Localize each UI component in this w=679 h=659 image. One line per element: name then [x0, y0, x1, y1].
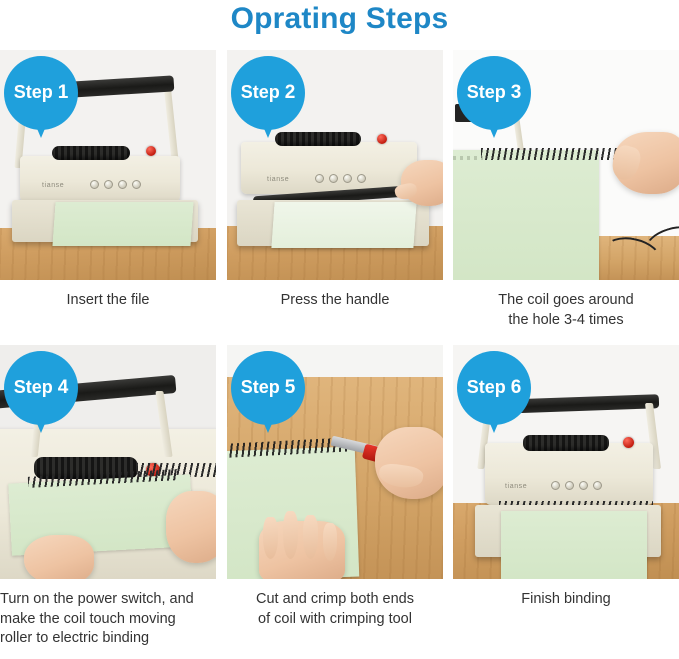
feed-roller: [275, 132, 361, 146]
finger-2: [283, 511, 298, 559]
dial-4: [357, 174, 366, 183]
green-paper: [271, 202, 416, 248]
finger-3: [303, 515, 318, 559]
step-caption-2: Press the handle: [227, 291, 443, 311]
steps-row-bottom: Step 4 Turn on the power switch, and mak…: [0, 345, 679, 659]
step-badge-1: Step 1: [4, 56, 78, 130]
step-caption-5: Cut and crimp both ends of coil with cri…: [227, 590, 443, 629]
steps-grid: tianse Step 1 Insert the file: [0, 50, 679, 659]
step-card-5: Step 5 Cut and crimp both ends of coil w…: [227, 345, 443, 659]
hand-left: [24, 535, 94, 579]
badge-tail: [257, 112, 279, 138]
badge-tail: [257, 407, 279, 433]
step-card-1: tianse Step 1 Insert the file: [0, 50, 216, 345]
badge-tail: [483, 112, 505, 138]
brand-logo: tianse: [42, 182, 64, 189]
step-photo-6: tianse Step 6: [453, 345, 679, 579]
step-photo-3: Step 3: [453, 50, 679, 280]
machine-body: [20, 156, 180, 202]
dial-3: [579, 481, 588, 490]
dial-4: [593, 481, 602, 490]
green-paper: [52, 202, 193, 246]
power-button: [377, 134, 387, 144]
hand-with-tool: [375, 427, 443, 499]
dial-2: [329, 174, 338, 183]
badge-tail: [30, 407, 52, 433]
steps-row-top: tianse Step 1 Insert the file: [0, 50, 679, 345]
brand-logo: tianse: [267, 176, 289, 183]
infographic-page: Oprating Steps ti: [0, 0, 679, 659]
step-photo-1: tianse Step 1: [0, 50, 216, 280]
feed-roller: [52, 146, 130, 160]
dial-4: [132, 180, 141, 189]
badge-tail: [30, 112, 52, 138]
dial-3: [343, 174, 352, 183]
dial-3: [118, 180, 127, 189]
step-photo-2: tianse Step 2: [227, 50, 443, 280]
step-badge-3: Step 3: [457, 56, 531, 130]
binding-coil: [481, 148, 621, 160]
step-badge-5: Step 5: [231, 351, 305, 425]
step-card-3: Step 3 The coil goes around the hole 3-4…: [453, 50, 679, 345]
power-button: [146, 146, 156, 156]
step-caption-4: Turn on the power switch, and make the c…: [0, 590, 216, 649]
step-badge-label-5: Step 5: [241, 377, 296, 399]
step-caption-3: The coil goes around the hole 3-4 times: [453, 291, 679, 330]
finger-4: [323, 523, 337, 561]
step-badge-4: Step 4: [4, 351, 78, 425]
dial-1: [315, 174, 324, 183]
finished-document: [501, 511, 647, 579]
punched-holes: [453, 156, 483, 160]
dial-1: [90, 180, 99, 189]
step-badge-label-6: Step 6: [467, 377, 522, 399]
page-title: Oprating Steps: [0, 2, 679, 36]
step-badge-label-1: Step 1: [14, 82, 69, 104]
finger-1: [263, 517, 278, 559]
step-photo-4: Step 4: [0, 345, 216, 579]
dial-2: [565, 481, 574, 490]
machine-body: [485, 443, 653, 505]
step-badge-2: Step 2: [231, 56, 305, 130]
step-card-6: tianse Step 6 Finish binding: [453, 345, 679, 659]
badge-tail: [483, 407, 505, 433]
step-badge-6: Step 6: [457, 351, 531, 425]
step-badge-label-4: Step 4: [14, 377, 69, 399]
step-badge-label-3: Step 3: [467, 82, 522, 104]
step-card-4: Step 4 Turn on the power switch, and mak…: [0, 345, 216, 659]
brand-logo: tianse: [505, 483, 527, 490]
step-badge-label-2: Step 2: [241, 82, 296, 104]
feed-roller: [523, 435, 609, 451]
step-caption-6: Finish binding: [453, 590, 679, 610]
step-photo-5: Step 5: [227, 345, 443, 579]
power-button: [623, 437, 634, 448]
dial-2: [104, 180, 113, 189]
hand-right: [166, 491, 216, 563]
step-card-2: tianse Step 2: [227, 50, 443, 345]
step-caption-1: Insert the file: [0, 291, 216, 311]
dial-1: [551, 481, 560, 490]
green-document: [453, 150, 599, 280]
